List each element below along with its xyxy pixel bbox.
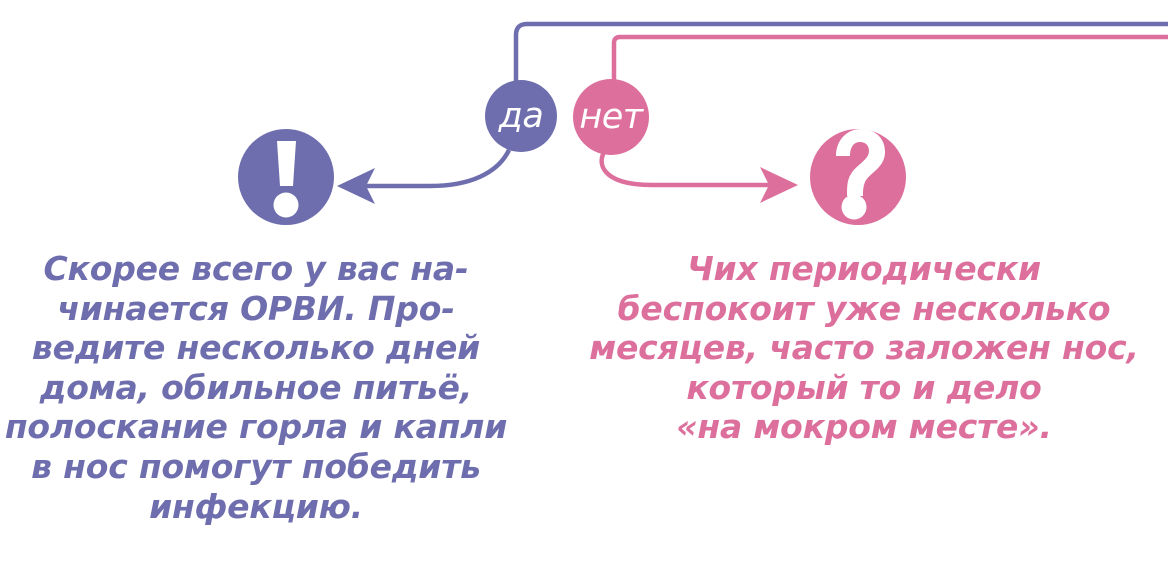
node-yes-circle[interactable] — [485, 80, 557, 152]
caption-yes: Скорее всего у вас на- чинается ОРВИ. Пр… — [0, 249, 512, 526]
question-mark-dot — [842, 195, 867, 220]
exclamation-mark-stem — [277, 141, 296, 186]
diagram-canvas: ? да нет Скорее всего у вас на- чинается… — [0, 0, 1168, 581]
pink-arrow-shaft — [602, 152, 779, 185]
node-no-circle[interactable] — [573, 79, 649, 155]
exclamation-mark-dot — [274, 193, 299, 218]
caption-no: Чих периодически беспокоит уже несколько… — [560, 249, 1168, 447]
pink-top-rail-path — [614, 37, 1168, 86]
purple-arrow-shaft — [356, 150, 509, 186]
